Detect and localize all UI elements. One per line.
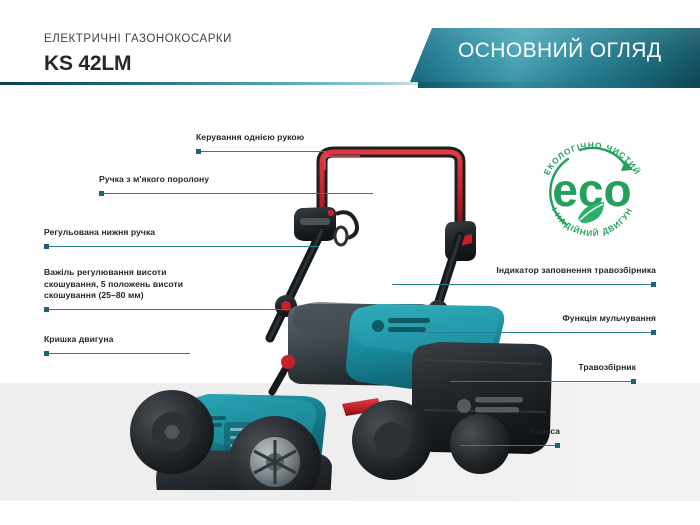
page-title: KS 42LM [44,52,131,76]
callout-dot [44,307,49,312]
callout-leader-line [44,246,319,247]
callout-dot [555,443,560,448]
callout-leader-line [44,353,190,354]
header-kicker: ЕЛЕКТРИЧНІ ГАЗОНОКОСАРКИ [44,33,232,45]
page-root: ЕЛЕКТРИЧНІ ГАЗОНОКОСАРКИ KS 42LM ОСНОВНИ… [0,0,700,525]
callout-dot [196,149,201,154]
callout-leader-line [99,193,373,194]
callout-label: Ручка з м'якого поролону [99,174,209,186]
wheel-rear-left [352,400,432,480]
callout-leader-line [450,381,636,382]
callout-dot [99,191,104,196]
callout-label: Важіль регулювання висоти скошування, 5 … [44,267,196,302]
callout-leader-line [44,309,294,310]
callout-dot [44,351,49,356]
section-banner: ОСНОВНИЙ ОГЛЯД [410,28,700,82]
callout-leader-line [420,332,656,333]
eco-badge: eco ЕКОЛОГІЧНО ЧИСТИЙ І НАДІЙНИЙ ДВИГУН [528,126,656,254]
wheel-front-left [130,390,214,474]
callout-dot [44,244,49,249]
callout-leader-line [460,445,560,446]
callout-label: Індикатор заповнення травозбірника [496,265,656,277]
callout-label: Функція мульчування [562,313,656,325]
callout-dot [651,282,656,287]
callout-leader-line [196,151,376,152]
header-rule-left [0,82,418,85]
callout-label: Кришка двигуна [44,334,113,346]
handle-bar [322,152,460,230]
callout-label: Керування однією рукою [196,132,304,144]
header-rule-right [418,82,700,88]
section-banner-label: ОСНОВНИЙ ОГЛЯД [458,39,662,63]
cable-clip [335,212,357,245]
page-header: ЕЛЕКТРИЧНІ ГАЗОНОКОСАРКИ KS 42LM ОСНОВНИ… [0,0,700,88]
callout-label: Регульована нижня ручка [44,227,155,239]
callout-leader-line [392,284,656,285]
callout-dot [651,330,656,335]
wheel-rear-right [450,414,510,474]
callout-label: Колеса [530,426,560,438]
callout-dot [631,379,636,384]
callout-label: Травозбірник [578,362,636,374]
